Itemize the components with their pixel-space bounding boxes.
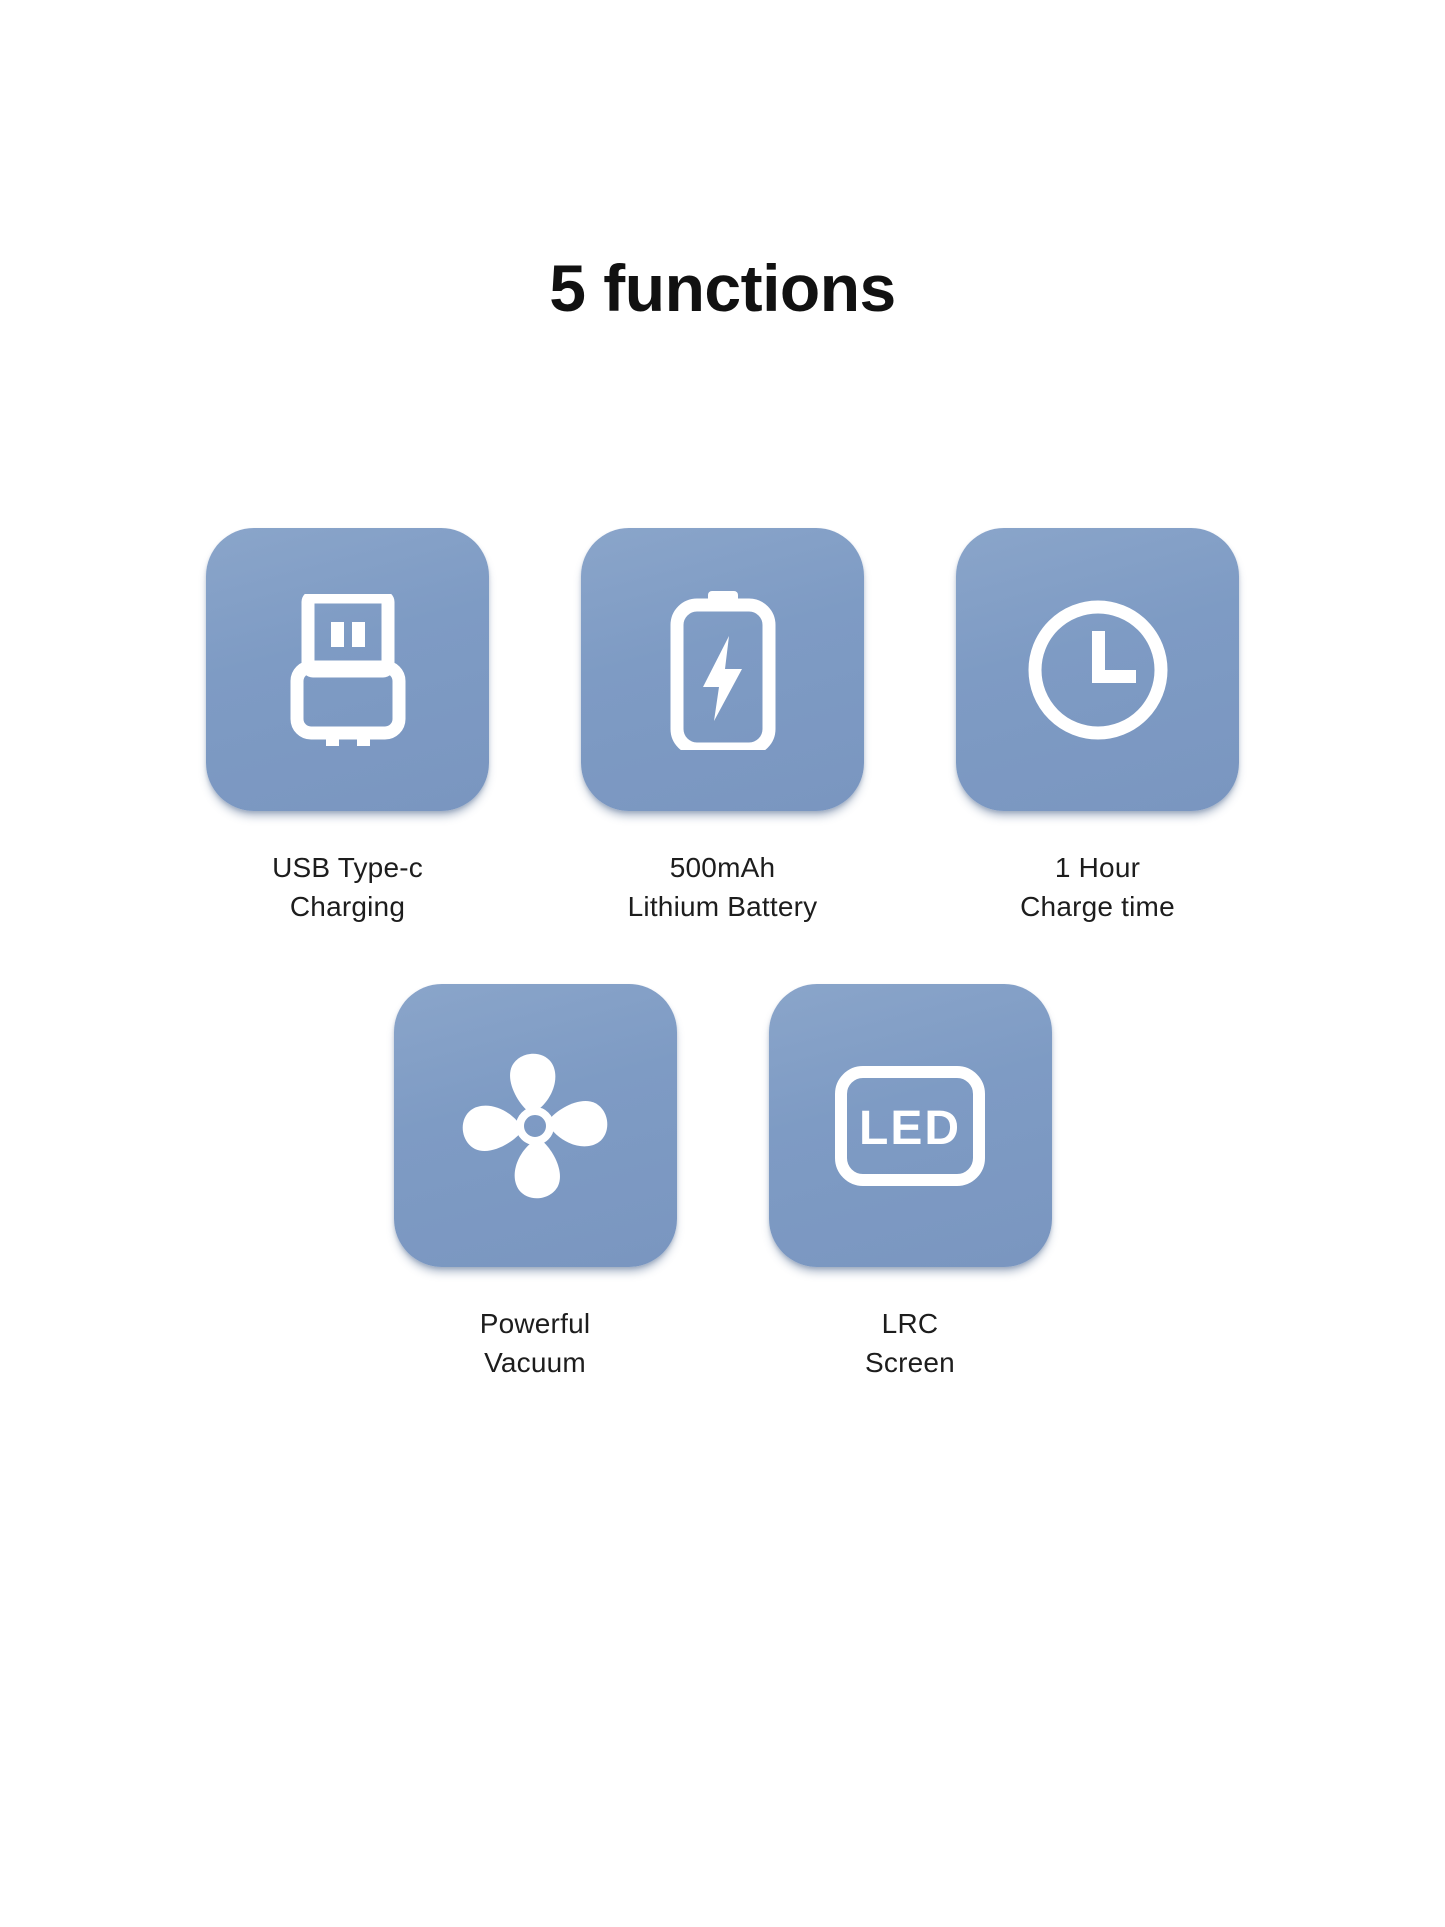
fan-blades-icon [455,1046,615,1206]
feature-card-lrc-screen[interactable]: LED LRC Screen [769,984,1052,1382]
feature-tile-fan[interactable] [394,984,677,1267]
led-screen-icon: LED [834,1065,986,1187]
feature-label-vacuum: Powerful Vacuum [480,1305,591,1382]
feature-row-bottom: Powerful Vacuum LED LRC Screen [0,984,1445,1382]
feature-label-battery: 500mAh Lithium Battery [628,849,818,926]
feature-card-usb-type-c[interactable]: USB Type-c Charging [206,528,489,926]
feature-label-line2: Lithium Battery [628,888,818,927]
feature-label-line2: Screen [865,1344,955,1383]
feature-label-line1: 1 Hour [1055,852,1140,883]
usb-plug-icon [289,594,407,746]
battery-charging-icon [670,590,776,750]
feature-tile-led[interactable]: LED [769,984,1052,1267]
feature-label-line1: 500mAh [670,852,776,883]
feature-label-lrc-screen: LRC Screen [865,1305,955,1382]
feature-tile-battery[interactable] [581,528,864,811]
feature-label-line1: LRC [882,1308,939,1339]
led-icon-text: LED [859,1102,961,1155]
feature-label-line1: Powerful [480,1308,591,1339]
feature-row-top: USB Type-c Charging [0,528,1445,926]
feature-grid: USB Type-c Charging [0,528,1445,1383]
feature-label-charge-time: 1 Hour Charge time [1020,849,1175,926]
feature-label-line2: Charge time [1020,888,1175,927]
feature-infographic: 5 functions [0,0,1445,1927]
page-title: 5 functions [0,252,1445,325]
feature-label-line2: Vacuum [480,1344,591,1383]
feature-tile-usb[interactable] [206,528,489,811]
feature-card-vacuum[interactable]: Powerful Vacuum [394,984,677,1382]
feature-card-battery[interactable]: 500mAh Lithium Battery [581,528,864,926]
feature-tile-clock[interactable] [956,528,1239,811]
feature-label-line2: Charging [272,888,423,927]
clock-icon [1022,594,1174,746]
feature-label-usb: USB Type-c Charging [272,849,423,926]
feature-card-charge-time[interactable]: 1 Hour Charge time [956,528,1239,926]
feature-label-line1: USB Type-c [272,852,423,883]
